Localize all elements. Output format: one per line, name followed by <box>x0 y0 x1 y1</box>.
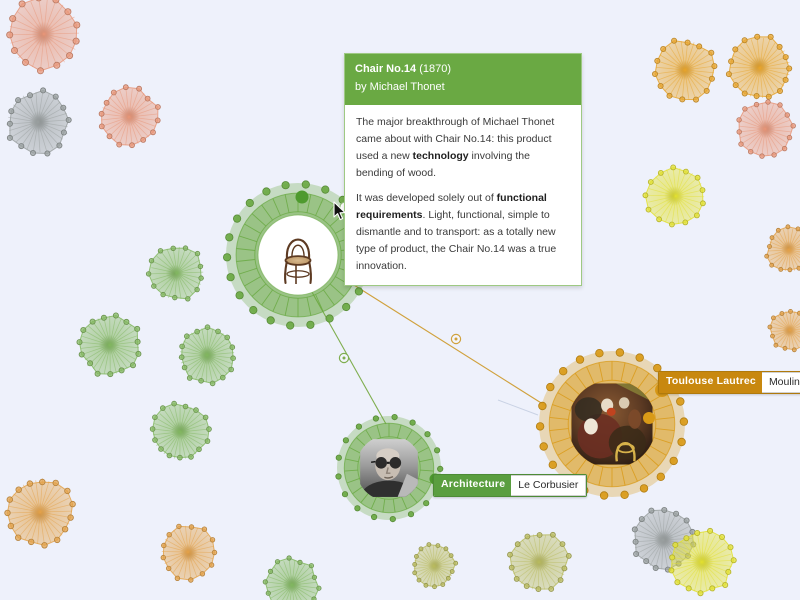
mouse-cursor-icon <box>333 201 347 221</box>
background-node <box>99 85 160 148</box>
background-node <box>161 524 217 582</box>
tooltip-p1-bold: technology <box>413 150 469 162</box>
background-node <box>179 325 236 386</box>
graph-canvas[interactable]: Architecture Le Corbusier Toulouse Lautr… <box>0 0 800 600</box>
background-node <box>737 100 796 159</box>
background-node <box>7 0 80 74</box>
background-node <box>6 88 71 156</box>
moulin-rouge-painting <box>571 383 652 464</box>
background-node <box>77 313 141 377</box>
background-node <box>726 34 792 99</box>
background-node <box>768 309 800 351</box>
tooltip-header: Chair No.14 (1870) by Michael Thonet <box>345 54 581 105</box>
badge-architecture[interactable]: Architecture Le Corbusier <box>433 474 587 497</box>
info-tooltip: Chair No.14 (1870) by Michael Thonet The… <box>344 53 582 286</box>
background-node <box>150 401 211 460</box>
background-node <box>146 246 204 301</box>
badge-toulouse-lautrec-category: Toulouse Lautrec <box>659 372 762 393</box>
badge-toulouse-lautrec[interactable]: Toulouse Lautrec Moulin Rouge <box>658 371 800 394</box>
background-node <box>508 532 572 591</box>
tooltip-title: Chair No.14 <box>355 63 416 75</box>
tooltip-p2-prefix: It was developed solely out of <box>356 192 497 204</box>
tooltip-paragraph-1: The major breakthrough of Michael Thonet… <box>356 114 570 182</box>
background-node <box>263 556 321 600</box>
background-node <box>413 543 458 589</box>
background-node <box>765 225 800 273</box>
tooltip-paragraph-2: It was developed solely out of functiona… <box>356 190 570 275</box>
background-node <box>643 165 706 227</box>
tooltip-byline: by Michael Thonet <box>355 80 571 96</box>
background-node <box>652 38 717 102</box>
tooltip-year: (1870) <box>419 63 451 75</box>
node-le-corbusier[interactable] <box>336 414 443 521</box>
edge-chair-to-moulin-rouge[interactable] <box>346 280 546 406</box>
tooltip-body: The major breakthrough of Michael Thonet… <box>345 105 581 285</box>
badge-architecture-category: Architecture <box>434 475 511 496</box>
tooltip-title-line: Chair No.14 (1870) <box>355 62 571 78</box>
badge-architecture-value: Le Corbusier <box>511 475 586 496</box>
badge-toulouse-lautrec-value: Moulin Rouge <box>762 372 800 393</box>
le-corbusier-portrait <box>360 439 418 497</box>
background-node <box>5 478 76 548</box>
